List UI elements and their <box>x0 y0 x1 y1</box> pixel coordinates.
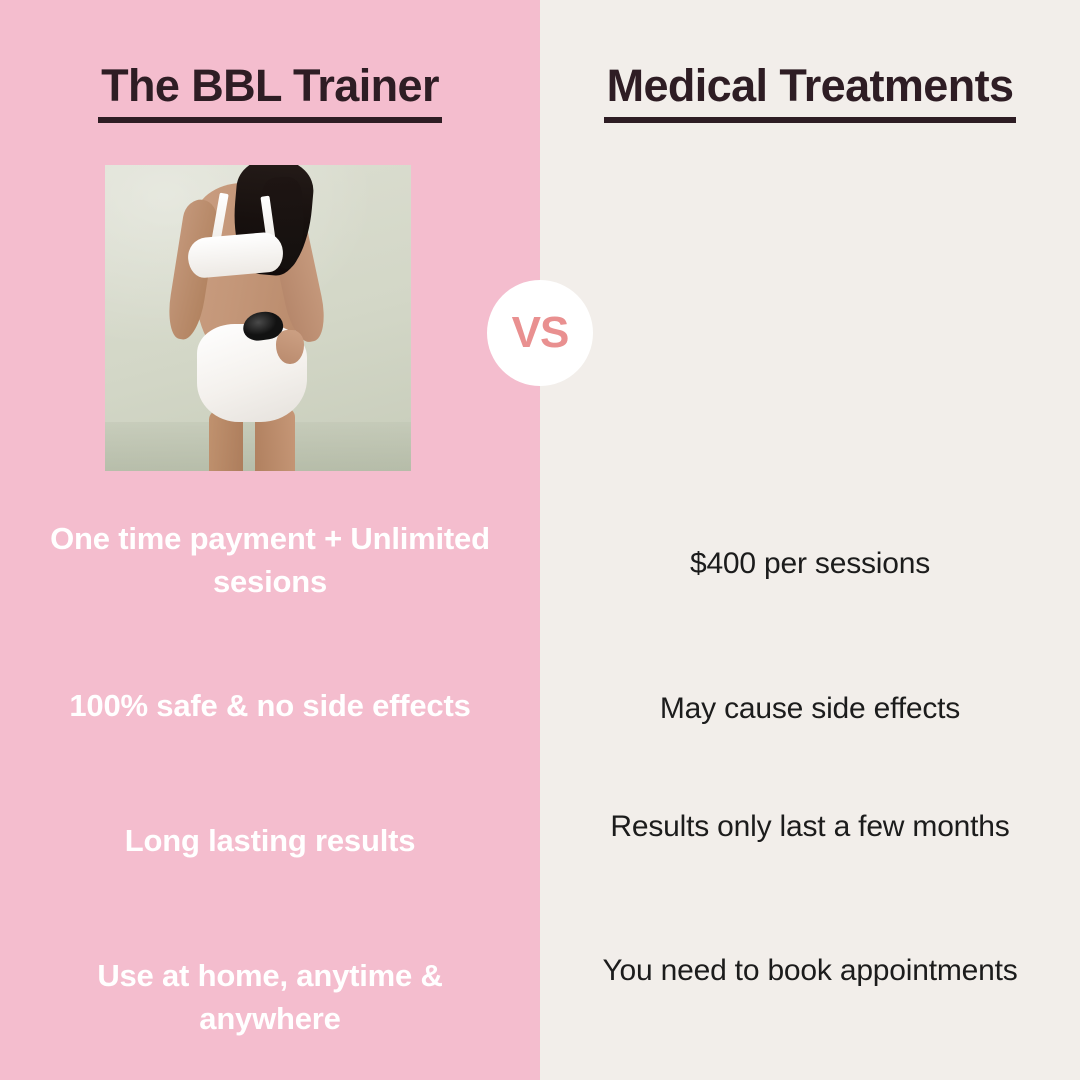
left-feature-item: Long lasting results <box>0 820 540 863</box>
left-feature-item: Use at home, anytime & anywhere <box>0 955 540 1041</box>
right-feature-item: May cause side effects <box>540 688 1080 731</box>
right-column-title: Medical Treatments <box>540 60 1080 123</box>
comparison-infographic: The BBL Trainer One time payment + Unlim… <box>0 0 1080 1080</box>
left-title-text: The BBL Trainer <box>101 60 439 123</box>
left-feature-item: 100% safe & no side effects <box>0 685 540 728</box>
right-feature-item: Results only last a few months <box>540 806 1080 849</box>
left-column-title: The BBL Trainer <box>0 60 540 123</box>
left-column-bbl-trainer: The BBL Trainer One time payment + Unlim… <box>0 0 540 1080</box>
left-feature-item: One time payment + Unlimited sesions <box>0 518 540 604</box>
right-column-medical-treatments: Medical Treatments EMSCULPT $400 per ses… <box>540 0 1080 1080</box>
vs-badge: VS <box>487 280 593 386</box>
right-feature-item: You need to book appointments <box>540 950 1080 993</box>
left-product-photo <box>105 165 411 471</box>
vs-label: VS <box>512 311 569 355</box>
right-title-text: Medical Treatments <box>607 60 1014 123</box>
right-feature-item: $400 per sessions <box>540 543 1080 586</box>
